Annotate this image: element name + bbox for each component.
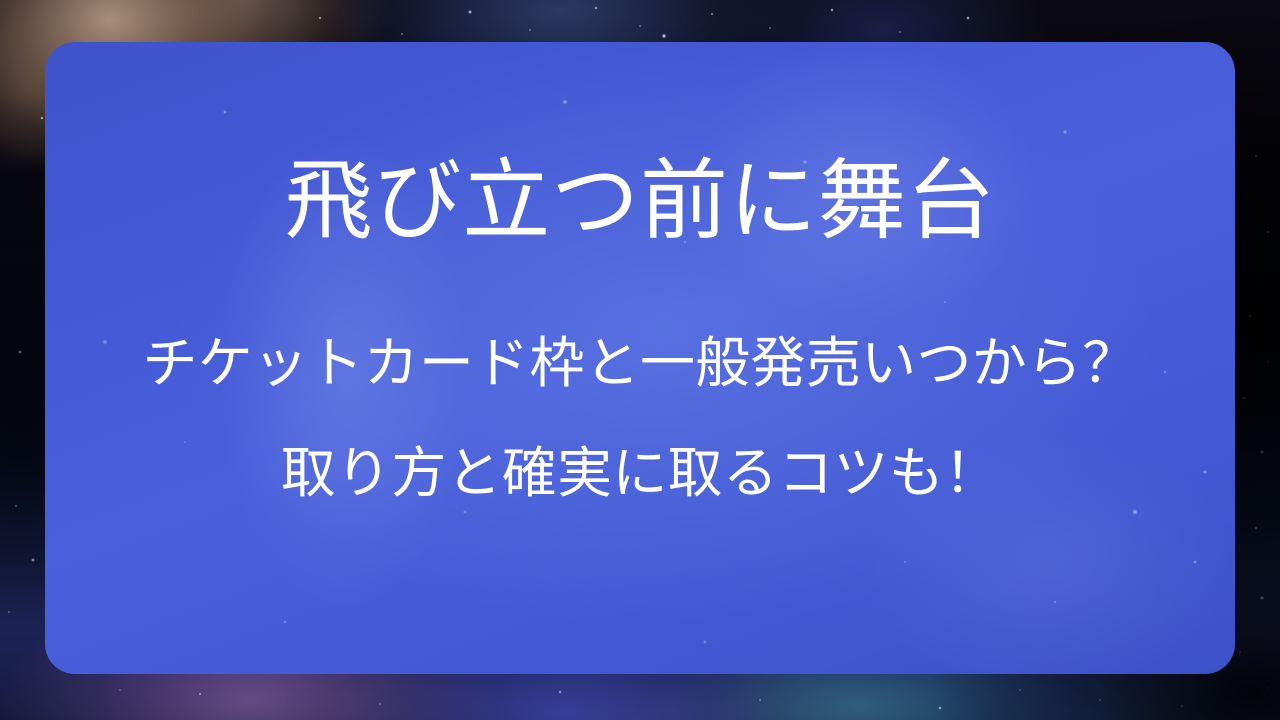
subtitle-block: チケットカード枠と一般発売いつから？ 取り方と確実に取るコツも！ <box>143 333 1138 504</box>
card-content: 飛び立つ前に舞台 チケットカード枠と一般発売いつから？ 取り方と確実に取るコツも… <box>45 42 1235 674</box>
subtitle-line-2: 取り方と確実に取るコツも！ <box>281 443 1000 504</box>
title-card-panel: 飛び立つ前に舞台 チケットカード枠と一般発売いつから？ 取り方と確実に取るコツも… <box>45 42 1235 674</box>
subtitle-line-1: チケットカード枠と一般発売いつから？ <box>143 333 1138 394</box>
thumbnail-canvas: 飛び立つ前に舞台 チケットカード枠と一般発売いつから？ 取り方と確実に取るコツも… <box>0 0 1280 720</box>
page-title: 飛び立つ前に舞台 <box>284 152 995 251</box>
